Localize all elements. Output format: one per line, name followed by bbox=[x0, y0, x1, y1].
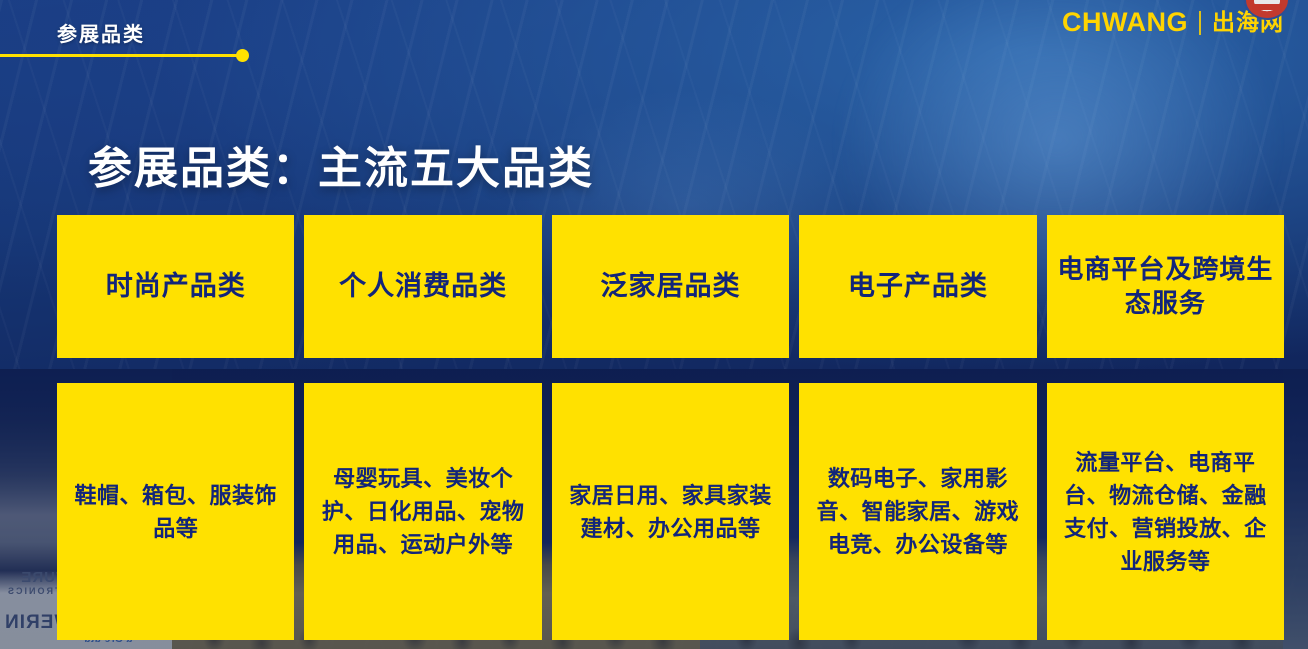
category-card-header: 个人消费品类 bbox=[304, 215, 541, 358]
category-card-electronics[interactable]: 电子产品类 数码电子、家用影音、智能家居、游戏电竞、办公设备等 bbox=[799, 215, 1036, 640]
category-card-ecommerce-services[interactable]: 电商平台及跨境生态服务 流量平台、电商平台、物流仓储、金融支付、营销投放、企业服… bbox=[1047, 215, 1284, 640]
card-gap bbox=[552, 358, 789, 383]
category-card-body: 鞋帽、箱包、服装饰品等 bbox=[57, 383, 294, 640]
category-description: 流量平台、电商平台、物流仓储、金融支付、营销投放、企业服务等 bbox=[1059, 446, 1272, 578]
category-card-header: 电子产品类 bbox=[799, 215, 1036, 358]
category-card-personal-consumer[interactable]: 个人消费品类 母婴玩具、美妆个护、日化用品、宠物用品、运动户外等 bbox=[304, 215, 541, 640]
card-gap bbox=[799, 358, 1036, 383]
category-card-body: 母婴玩具、美妆个护、日化用品、宠物用品、运动户外等 bbox=[304, 383, 541, 640]
category-card-header: 时尚产品类 bbox=[57, 215, 294, 358]
category-title: 时尚产品类 bbox=[106, 269, 246, 304]
category-card-header: 电商平台及跨境生态服务 bbox=[1047, 215, 1284, 358]
category-title: 个人消费品类 bbox=[339, 269, 507, 304]
brand-wordmark: CHWANG bbox=[1062, 9, 1188, 36]
category-title: 电商平台及跨境生态服务 bbox=[1055, 253, 1276, 320]
slide-root: UTURE ECTRONICS EMPOWERIN a Gre utu 参展品类… bbox=[0, 0, 1308, 649]
category-card-fashion[interactable]: 时尚产品类 鞋帽、箱包、服装饰品等 bbox=[57, 215, 294, 640]
category-card-body: 数码电子、家用影音、智能家居、游戏电竞、办公设备等 bbox=[799, 383, 1036, 640]
category-card-grid: 时尚产品类 鞋帽、箱包、服装饰品等 个人消费品类 母婴玩具、美妆个护、日化用品、… bbox=[57, 215, 1284, 640]
card-gap bbox=[304, 358, 541, 383]
kicker-underline bbox=[0, 54, 238, 57]
category-description: 数码电子、家用影音、智能家居、游戏电竞、办公设备等 bbox=[811, 462, 1024, 561]
category-title: 泛家居品类 bbox=[601, 269, 741, 304]
brand-divider bbox=[1199, 11, 1201, 35]
category-description: 母婴玩具、美妆个护、日化用品、宠物用品、运动户外等 bbox=[316, 462, 529, 561]
card-gap bbox=[1047, 358, 1284, 383]
kicker-dot-icon bbox=[236, 49, 249, 62]
card-gap bbox=[57, 358, 294, 383]
page-kicker: 参展品类 bbox=[57, 18, 145, 47]
page-title: 参展品类：主流五大品类 bbox=[88, 132, 594, 196]
category-description: 家居日用、家具家装建材、办公用品等 bbox=[564, 479, 777, 545]
category-card-home-living[interactable]: 泛家居品类 家居日用、家具家装建材、办公用品等 bbox=[552, 215, 789, 640]
category-card-header: 泛家居品类 bbox=[552, 215, 789, 358]
category-title: 电子产品类 bbox=[848, 269, 988, 304]
category-card-body: 家居日用、家具家装建材、办公用品等 bbox=[552, 383, 789, 640]
category-description: 鞋帽、箱包、服装饰品等 bbox=[69, 479, 282, 545]
category-card-body: 流量平台、电商平台、物流仓储、金融支付、营销投放、企业服务等 bbox=[1047, 383, 1284, 640]
